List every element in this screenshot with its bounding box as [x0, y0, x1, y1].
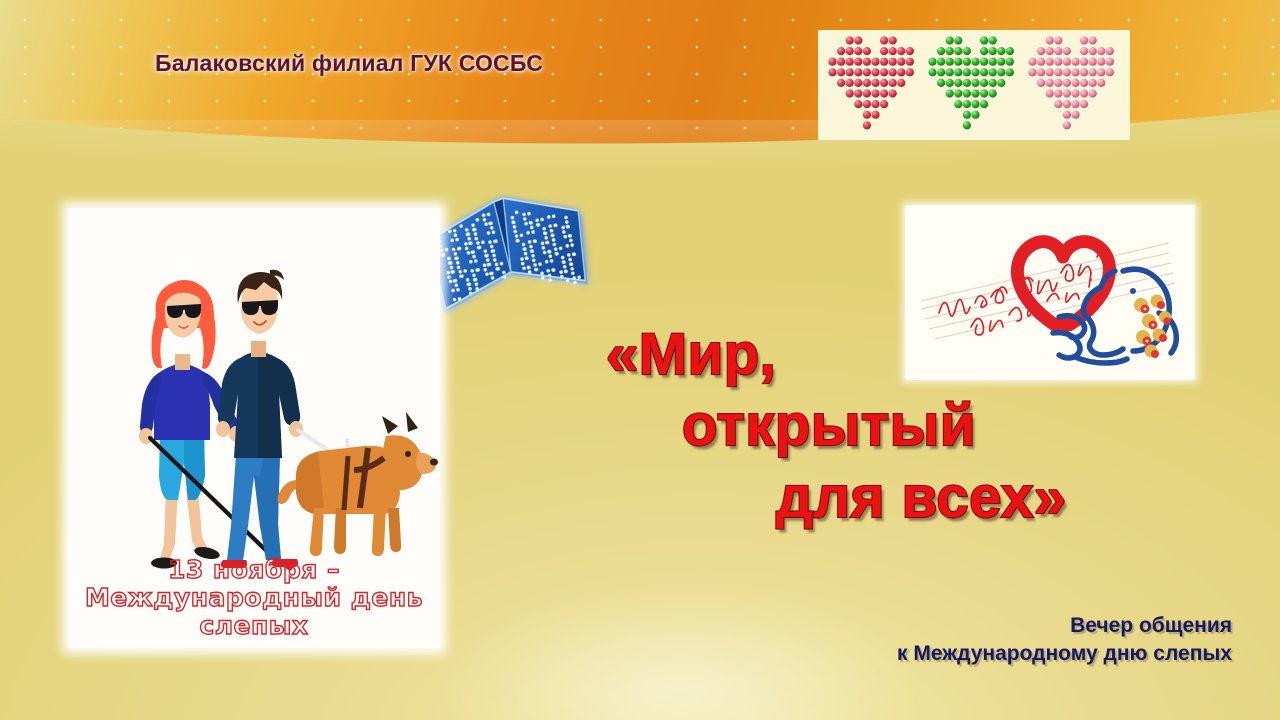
event-subtitle: Вечер общения к Международному дню слепы… — [897, 612, 1232, 668]
main-title: «Мир, открытый для всех» — [560, 326, 1200, 526]
slide-canvas: Балаковский филиал ГУК СОСБС — [0, 0, 1280, 720]
book-svg — [415, 170, 605, 345]
illustration-card: 13 ноября – Международный день слепых — [68, 208, 440, 648]
subtitle-line-1: Вечер общения — [897, 612, 1232, 640]
caption-line-2: Международный день — [68, 584, 440, 612]
illustration-caption: 13 ноября – Международный день слепых — [68, 556, 440, 640]
organization-header: Балаковский филиал ГУК СОСБС — [155, 50, 543, 77]
caption-line-3: слепых — [68, 612, 440, 640]
braille-hearts-svg — [818, 30, 1130, 140]
braille-hearts-graphic — [818, 30, 1130, 140]
title-line-2: открытый — [682, 397, 1200, 454]
open-braille-book — [415, 170, 605, 345]
subtitle-line-2: к Международному дню слепых — [897, 640, 1232, 668]
title-line-1: «Мир, — [606, 326, 1200, 383]
caption-line-1: 13 ноября – — [68, 556, 440, 584]
title-line-3: для всех» — [776, 469, 1200, 526]
